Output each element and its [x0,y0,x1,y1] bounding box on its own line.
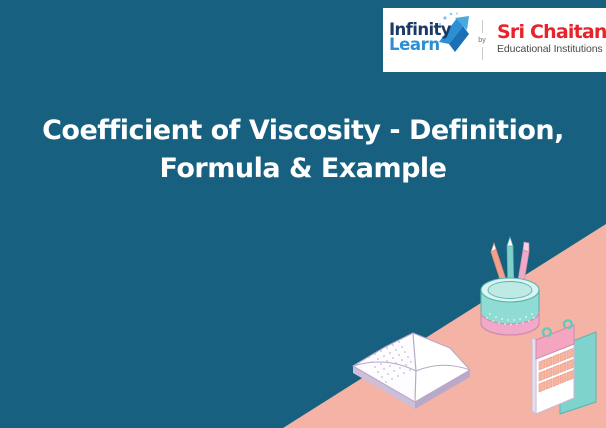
logo-by-text: by [478,37,485,44]
sri-chaitanya-name: Sri Chaitanya [497,23,606,42]
infinity-learn-logo: Infinity Learn [389,14,471,66]
brand-logo-card[interactable]: Infinity Learn by Sri Chaitanya Educatio… [383,8,606,72]
article-banner: Infinity Learn by Sri Chaitanya Educatio… [0,0,606,428]
page-title: Coefficient of Viscosity - Definition, F… [0,112,606,189]
pencil-cup-icon [481,237,539,335]
desk-illustration [330,228,606,428]
infinity-learn-wordmark: Infinity Learn [389,22,451,52]
sri-chaitanya-subtitle: Educational Institutions [497,43,606,56]
page-title-line-2: Formula & Example [14,150,592,188]
open-book-icon [353,333,470,409]
page-title-line-1: Coefficient of Viscosity - Definition, [14,112,592,150]
desk-calendar-icon [532,320,596,414]
sri-chaitanya-logo: Sri Chaitanya Educational Institutions [493,23,606,56]
learn-text: Learn [389,37,451,52]
